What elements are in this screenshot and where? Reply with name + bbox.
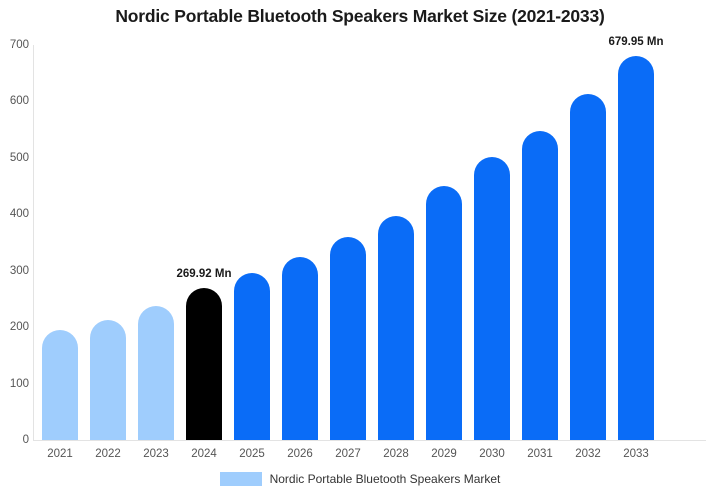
x-axis-tick-label: 2026 [282,448,318,460]
bar-2025[interactable] [234,273,270,440]
x-axis-tick-label: 2033 [618,448,654,460]
bar-2033[interactable] [618,56,654,440]
x-axis-tick-label: 2021 [42,448,78,460]
bar-2029[interactable] [426,186,462,440]
y-axis-tick-label: 600 [1,95,29,107]
x-axis-tick-label: 2031 [522,448,558,460]
x-axis-tick-label: 2029 [426,448,462,460]
plot-area [33,45,706,440]
x-axis-tick-label: 2023 [138,448,174,460]
x-axis-tick-label: 2025 [234,448,270,460]
bar-2027[interactable] [330,237,366,440]
x-axis-tick-label: 2022 [90,448,126,460]
chart-legend: Nordic Portable Bluetooth Speakers Marke… [0,472,720,486]
legend-label: Nordic Portable Bluetooth Speakers Marke… [270,472,501,486]
chart-title: Nordic Portable Bluetooth Speakers Marke… [0,6,720,27]
bar-2023[interactable] [138,306,174,440]
legend-swatch-icon [220,472,262,486]
x-axis-line [33,440,706,441]
x-axis-tick-label: 2028 [378,448,414,460]
x-axis-tick-label: 2030 [474,448,510,460]
bar-2031[interactable] [522,131,558,440]
x-axis-tick-label: 2027 [330,448,366,460]
bar-value-label-2033: 679.95 Mn [591,36,681,48]
x-axis-tick-label: 2032 [570,448,606,460]
y-axis-tick-label: 500 [1,152,29,164]
bar-2032[interactable] [570,94,606,440]
bar-chart: Nordic Portable Bluetooth Speakers Marke… [0,0,720,500]
bar-2021[interactable] [42,330,78,440]
y-axis-tick-label: 0 [1,434,29,446]
bar-value-label-2024: 269.92 Mn [159,268,249,280]
y-axis: 0100200300400500600700 [0,0,29,500]
y-axis-tick-label: 200 [1,321,29,333]
bar-2022[interactable] [90,320,126,440]
bar-2028[interactable] [378,216,414,440]
y-axis-tick-label: 100 [1,378,29,390]
y-axis-tick-label: 400 [1,208,29,220]
bar-2024[interactable] [186,288,222,440]
y-axis-tick-label: 300 [1,265,29,277]
x-axis-tick-label: 2024 [186,448,222,460]
y-axis-tick-label: 700 [1,39,29,51]
bar-2030[interactable] [474,157,510,440]
bar-2026[interactable] [282,257,318,440]
